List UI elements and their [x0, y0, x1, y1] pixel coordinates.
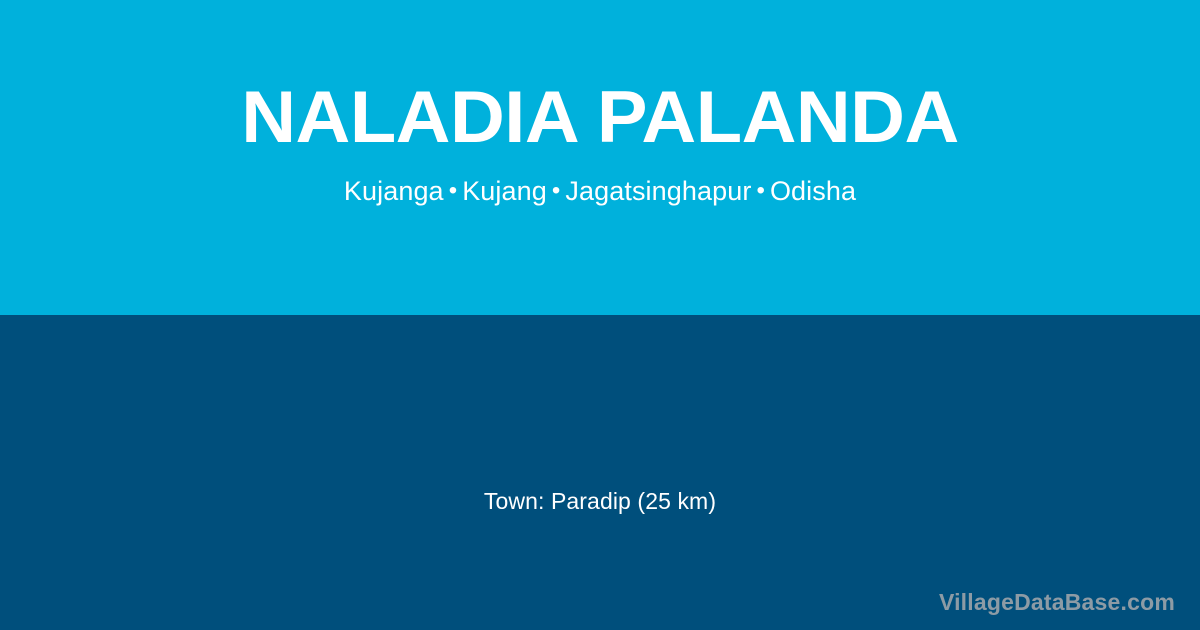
breadcrumb: Kujanga•Kujang•Jagatsinghapur•Odisha [344, 174, 856, 210]
site-watermark: VillageDataBase.com [939, 588, 1175, 616]
breadcrumb-separator-icon: • [547, 177, 566, 204]
details-band: Town: Paradip (25 km) [0, 315, 1200, 630]
breadcrumb-separator-icon: • [751, 177, 770, 204]
page-title: NALADIA PALANDA [241, 78, 959, 158]
breadcrumb-item-block: Kujang [462, 176, 547, 206]
header-band: NALADIA PALANDA Kujanga•Kujang•Jagatsing… [0, 0, 1200, 315]
nearest-town-detail: Town: Paradip (25 km) [0, 486, 1200, 516]
breadcrumb-item-state: Odisha [770, 176, 856, 206]
breadcrumb-item-district: Jagatsinghapur [565, 176, 751, 206]
breadcrumb-item-village: Kujanga [344, 176, 444, 206]
breadcrumb-separator-icon: • [444, 177, 463, 204]
village-info-card: NALADIA PALANDA Kujanga•Kujang•Jagatsing… [0, 0, 1200, 630]
